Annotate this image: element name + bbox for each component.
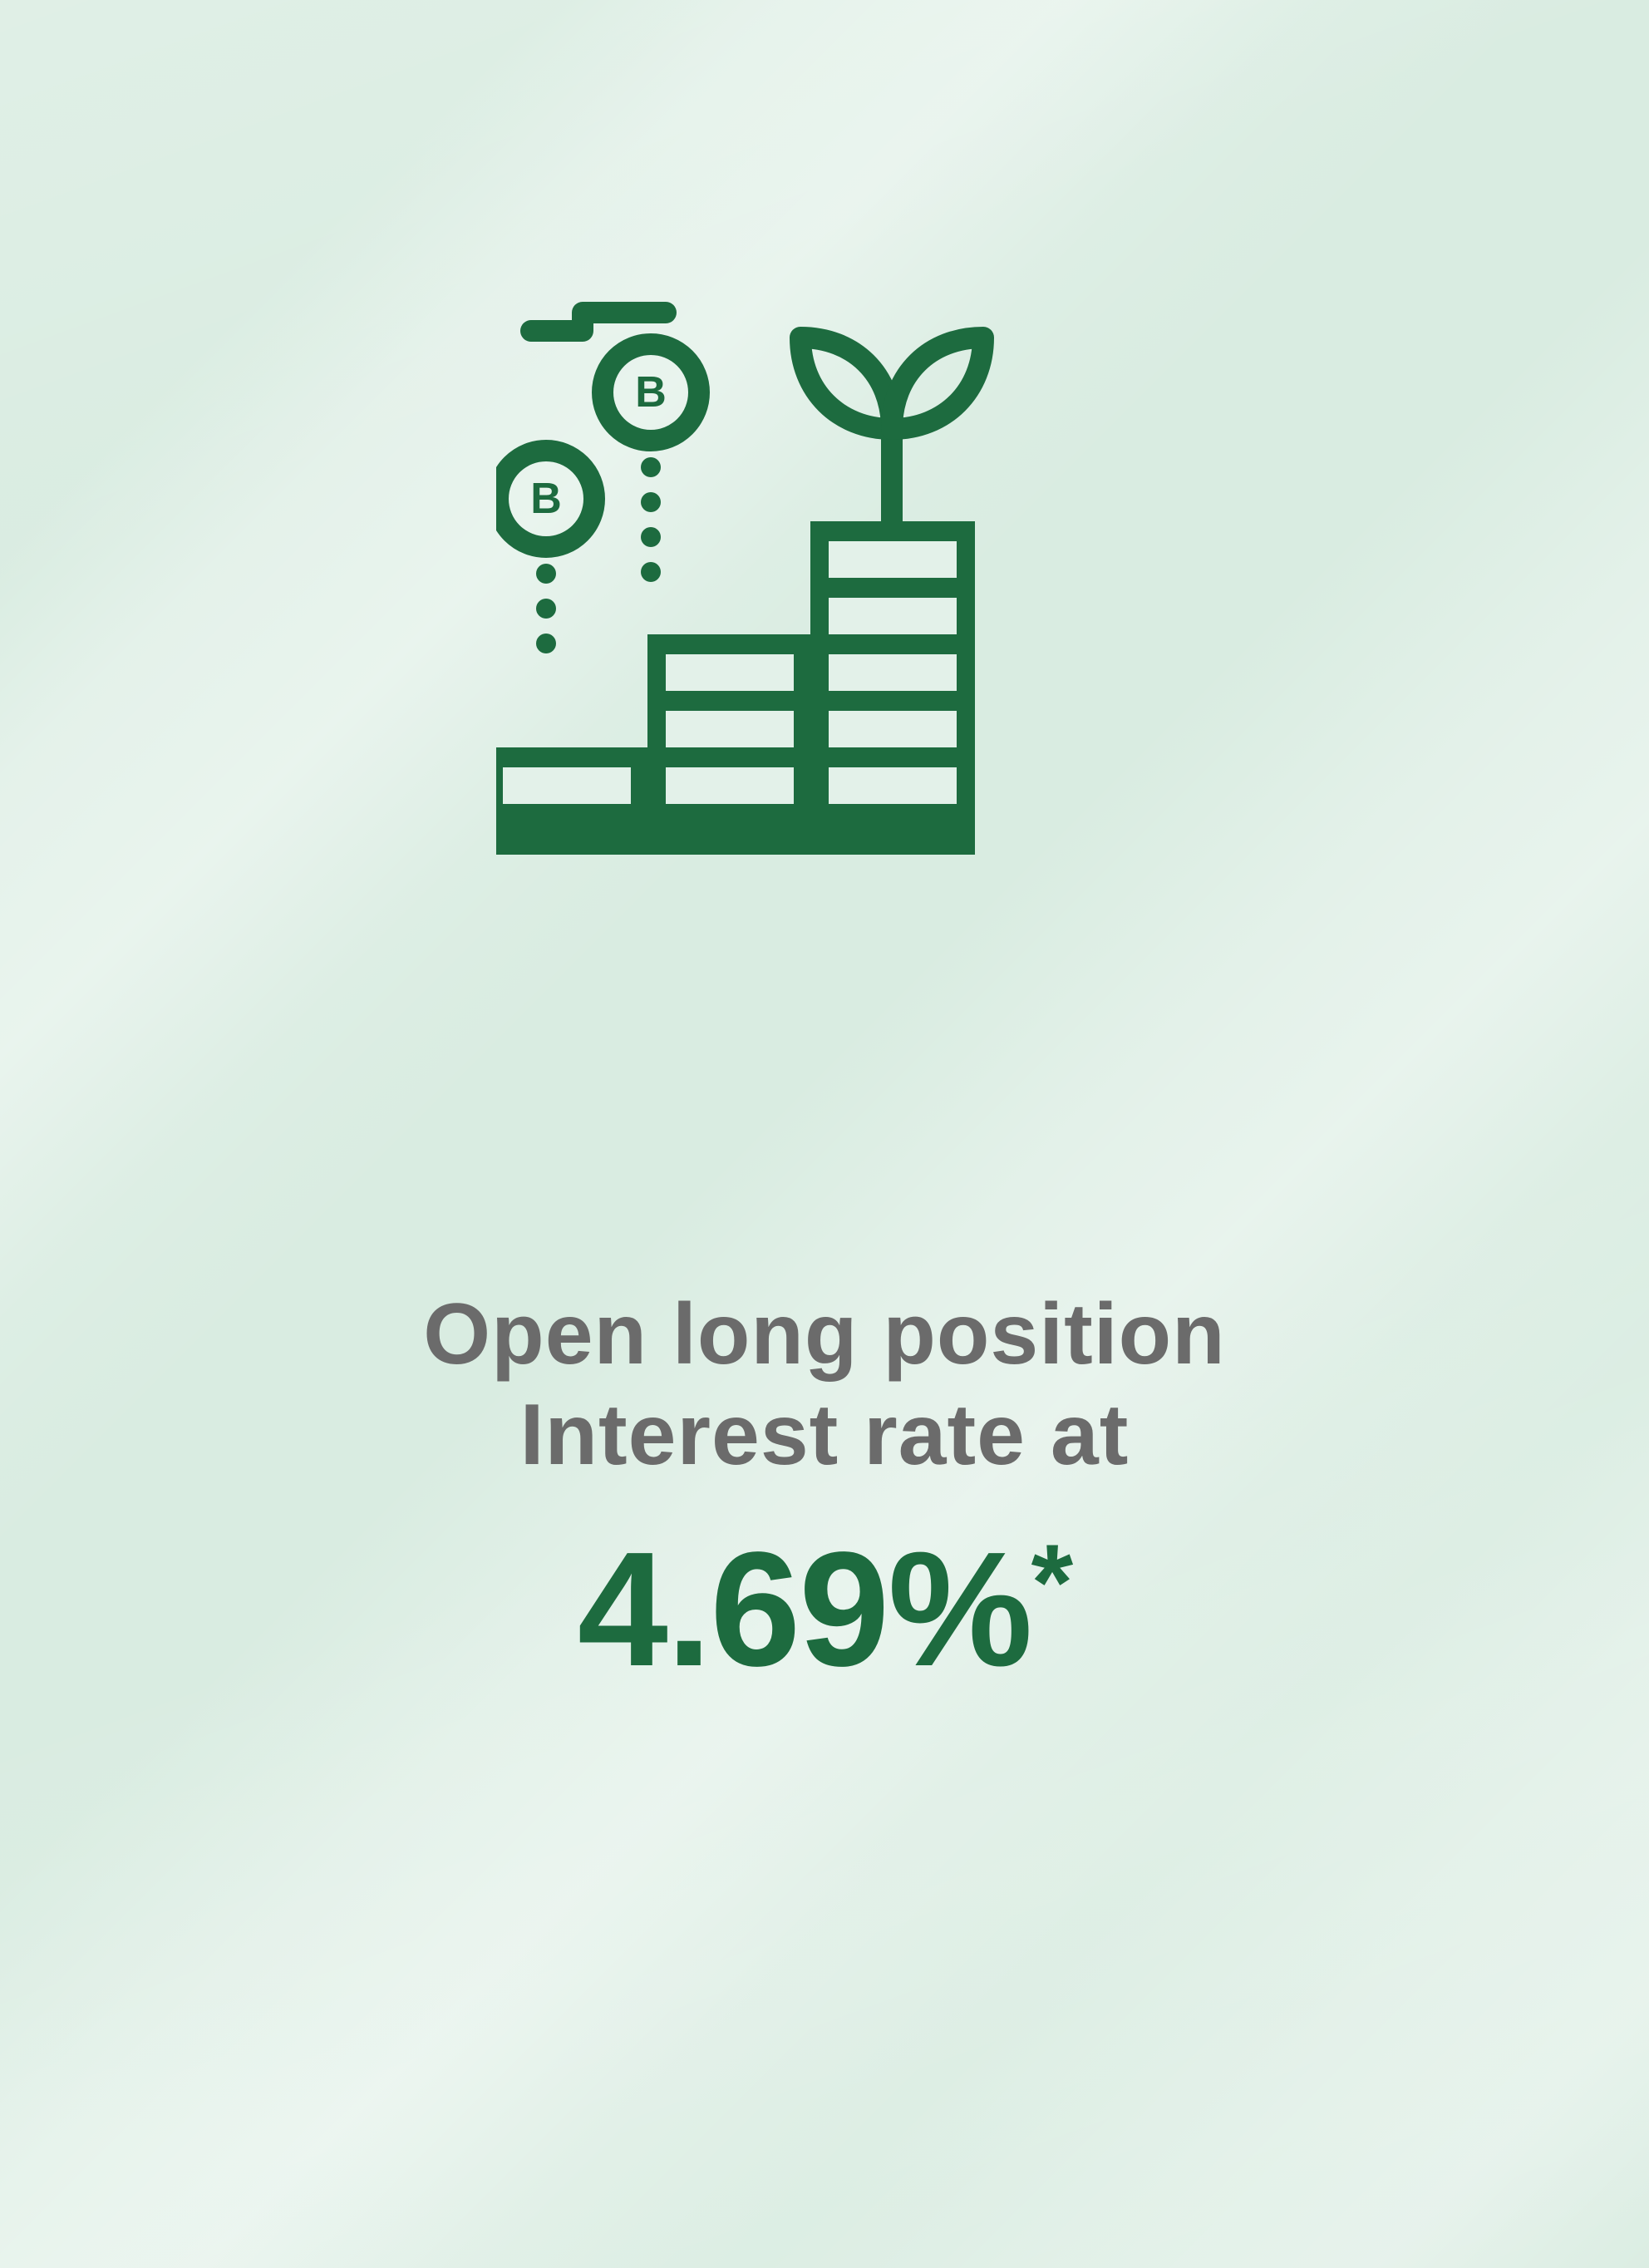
dotted-trail-lower-icon: [536, 564, 556, 653]
rate-display: 4.69%*: [0, 1528, 1649, 1691]
headline: Open long position Interest rate at: [0, 1284, 1649, 1485]
bar-left: [496, 747, 649, 855]
dotted-trail-upper-icon: [641, 457, 661, 582]
sprout-icon: [800, 338, 983, 521]
growth-bars-with-coins-and-sprout-icon: B B: [0, 283, 1649, 890]
footnote-marker: *: [1031, 1521, 1072, 1643]
coin-upper-icon: B: [603, 344, 699, 441]
svg-text:B: B: [635, 368, 667, 417]
text-block: Open long position Interest rate at 4.69…: [0, 1284, 1649, 1691]
step-hook-icon: [531, 313, 666, 331]
bar-right: [810, 521, 975, 855]
rate-value: 4.69%: [578, 1518, 1031, 1700]
svg-text:B: B: [530, 475, 562, 523]
promo-card: B B: [0, 0, 1649, 2268]
bar-middle: [647, 634, 812, 855]
coin-lower-icon: B: [498, 451, 594, 547]
